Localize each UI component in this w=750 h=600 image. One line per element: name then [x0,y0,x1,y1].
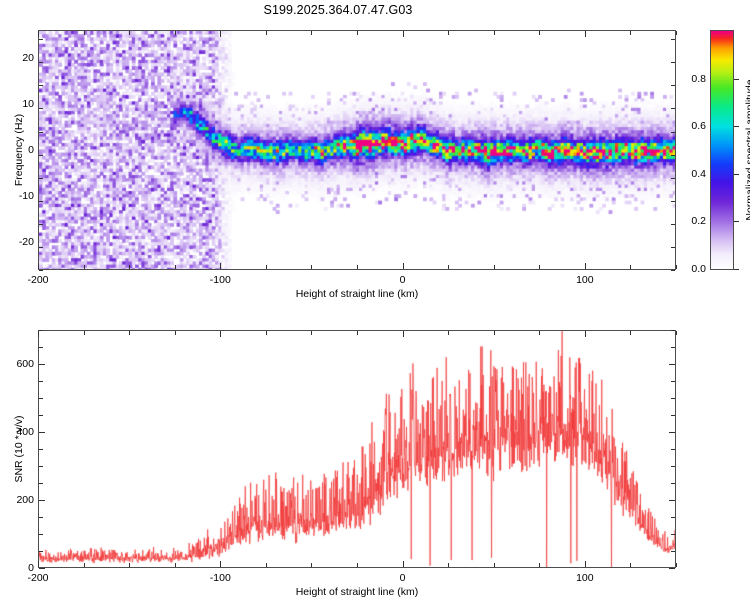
axis-tick [630,31,631,35]
axis-tick [38,263,39,269]
axis-tick [39,62,43,63]
axis-tick [220,331,221,337]
axis-tick [38,331,39,337]
axis-tick [448,331,449,335]
axis-tick [39,330,43,331]
axis-tick [671,224,675,225]
axis-tick [676,31,677,35]
axis-tick [311,265,312,269]
axis-tick [671,39,675,40]
axis-tick [585,561,586,567]
axis-tick [266,563,267,567]
axis-tick [671,62,675,63]
axis-tick [671,466,675,467]
axis-tick [39,415,43,416]
axis-tick [671,347,675,348]
axis-tick [175,331,176,335]
axis-tick [311,563,312,567]
colorbar-tick [734,79,739,80]
axis-tick [671,178,675,179]
spectrogram-xtick-label: -200 [27,274,48,286]
snr-xtick-label: -100 [210,572,231,584]
axis-tick [585,331,586,337]
axis-tick [671,330,675,331]
axis-tick [671,449,675,450]
axis-tick [669,568,675,569]
axis-tick [266,31,267,35]
axis-tick [39,201,43,202]
colorbar-title: Normalized spectral amplitude [744,79,750,220]
axis-tick [175,563,176,567]
axis-tick [357,31,358,35]
axis-tick [357,265,358,269]
axis-tick [539,331,540,335]
axis-tick [39,568,45,569]
snr-xaxis-title: Height of straight line (km) [296,586,419,598]
axis-tick [671,551,675,552]
axis-tick [220,31,221,37]
axis-tick [39,155,43,156]
spectrogram-ytick-label: 10 [6,98,34,110]
axis-tick [539,563,540,567]
axis-tick [39,500,45,501]
axis-tick [448,31,449,35]
colorbar-tick-label: 0.6 [680,120,706,132]
spectrogram-xaxis-title: Height of straight line (km) [296,288,419,300]
snr-ytick-label: 600 [6,358,34,370]
axis-tick [357,563,358,567]
axis-tick [671,381,675,382]
axis-tick [39,534,43,535]
colorbar-tick [734,174,739,175]
axis-tick [494,331,495,335]
colorbar-tick-label: 0.4 [680,168,706,180]
axis-tick [84,563,85,567]
axis-tick [671,132,675,133]
axis-tick [266,265,267,269]
axis-tick [175,265,176,269]
axis-tick [671,108,675,109]
axis-tick [39,347,43,348]
axis-tick [39,449,43,450]
axis-tick [630,265,631,269]
axis-tick [403,263,404,269]
axis-tick [671,270,675,271]
axis-tick [539,265,540,269]
axis-tick [448,265,449,269]
figure-title: S199.2025.364.07.47.G03 [0,3,676,17]
axis-tick [39,178,43,179]
axis-tick [494,563,495,567]
axis-tick [311,331,312,335]
snr-xtick-label: 100 [576,572,594,584]
axis-tick [39,39,43,40]
axis-tick [129,331,130,335]
spectrogram-yaxis-title: Frequency (Hz) [13,114,25,186]
axis-tick [671,534,675,535]
axis-tick [585,263,586,269]
axis-tick [676,265,677,269]
axis-tick [39,517,43,518]
axis-tick [39,466,43,467]
spectrogram-panel [38,30,676,270]
axis-tick [669,500,675,501]
colorbar-tick-label: 0.8 [680,73,706,85]
axis-tick [671,201,675,202]
axis-tick [220,561,221,567]
colorbar-tick-label: 0.2 [680,215,706,227]
axis-tick [669,432,675,433]
axis-tick [84,31,85,35]
spectrogram-xtick-label: 100 [576,274,594,286]
axis-tick [403,561,404,567]
axis-tick [403,331,404,337]
axis-tick [129,563,130,567]
axis-tick [357,331,358,335]
axis-tick [585,31,586,37]
axis-tick [39,270,43,271]
axis-tick [671,247,675,248]
axis-tick [39,247,43,248]
axis-tick [39,551,43,552]
colorbar-tick-label: 0.0 [680,263,706,275]
spectrogram-xtick-label: -100 [210,274,231,286]
colorbar-gradient [711,31,733,269]
axis-tick [84,265,85,269]
snr-canvas [39,331,676,568]
axis-tick [129,31,130,35]
snr-panel [38,330,676,568]
colorbar-tick [734,126,739,127]
colorbar-tick [734,221,739,222]
axis-tick [671,155,675,156]
colorbar-tick [734,269,739,270]
spectrogram-ytick-label: 20 [6,52,34,64]
spectrogram-ytick-label: -10 [6,190,34,202]
axis-tick [39,108,43,109]
axis-tick [38,31,39,37]
axis-tick [676,331,677,335]
axis-tick [669,364,675,365]
axis-tick [671,415,675,416]
spectrogram-ytick-label: -20 [6,236,34,248]
axis-tick [39,381,43,382]
snr-xtick-label: 0 [400,572,406,584]
snr-ytick-label: 200 [6,494,34,506]
axis-tick [671,398,675,399]
colorbar [710,30,734,270]
axis-tick [539,31,540,35]
spectrogram-xtick-label: 0 [400,274,406,286]
axis-tick [39,224,43,225]
axis-tick [39,398,43,399]
axis-tick [403,31,404,37]
snr-xtick-label: -200 [27,572,48,584]
axis-tick [671,483,675,484]
axis-tick [84,331,85,335]
axis-tick [630,563,631,567]
axis-tick [220,263,221,269]
axis-tick [671,85,675,86]
axis-tick [494,31,495,35]
axis-tick [175,31,176,35]
axis-tick [676,563,677,567]
figure-root: S199.2025.364.07.47.G03 -20-1001020-200-… [0,0,750,600]
axis-tick [39,483,43,484]
axis-tick [129,265,130,269]
axis-tick [266,331,267,335]
axis-tick [311,31,312,35]
snr-yaxis-title: SNR (10 * v/v) [13,415,25,482]
axis-tick [39,85,43,86]
axis-tick [671,517,675,518]
axis-tick [39,364,45,365]
axis-tick [39,132,43,133]
axis-tick [494,265,495,269]
spectrogram-canvas [39,31,676,270]
axis-tick [448,563,449,567]
axis-tick [38,561,39,567]
axis-tick [630,331,631,335]
axis-tick [39,432,45,433]
